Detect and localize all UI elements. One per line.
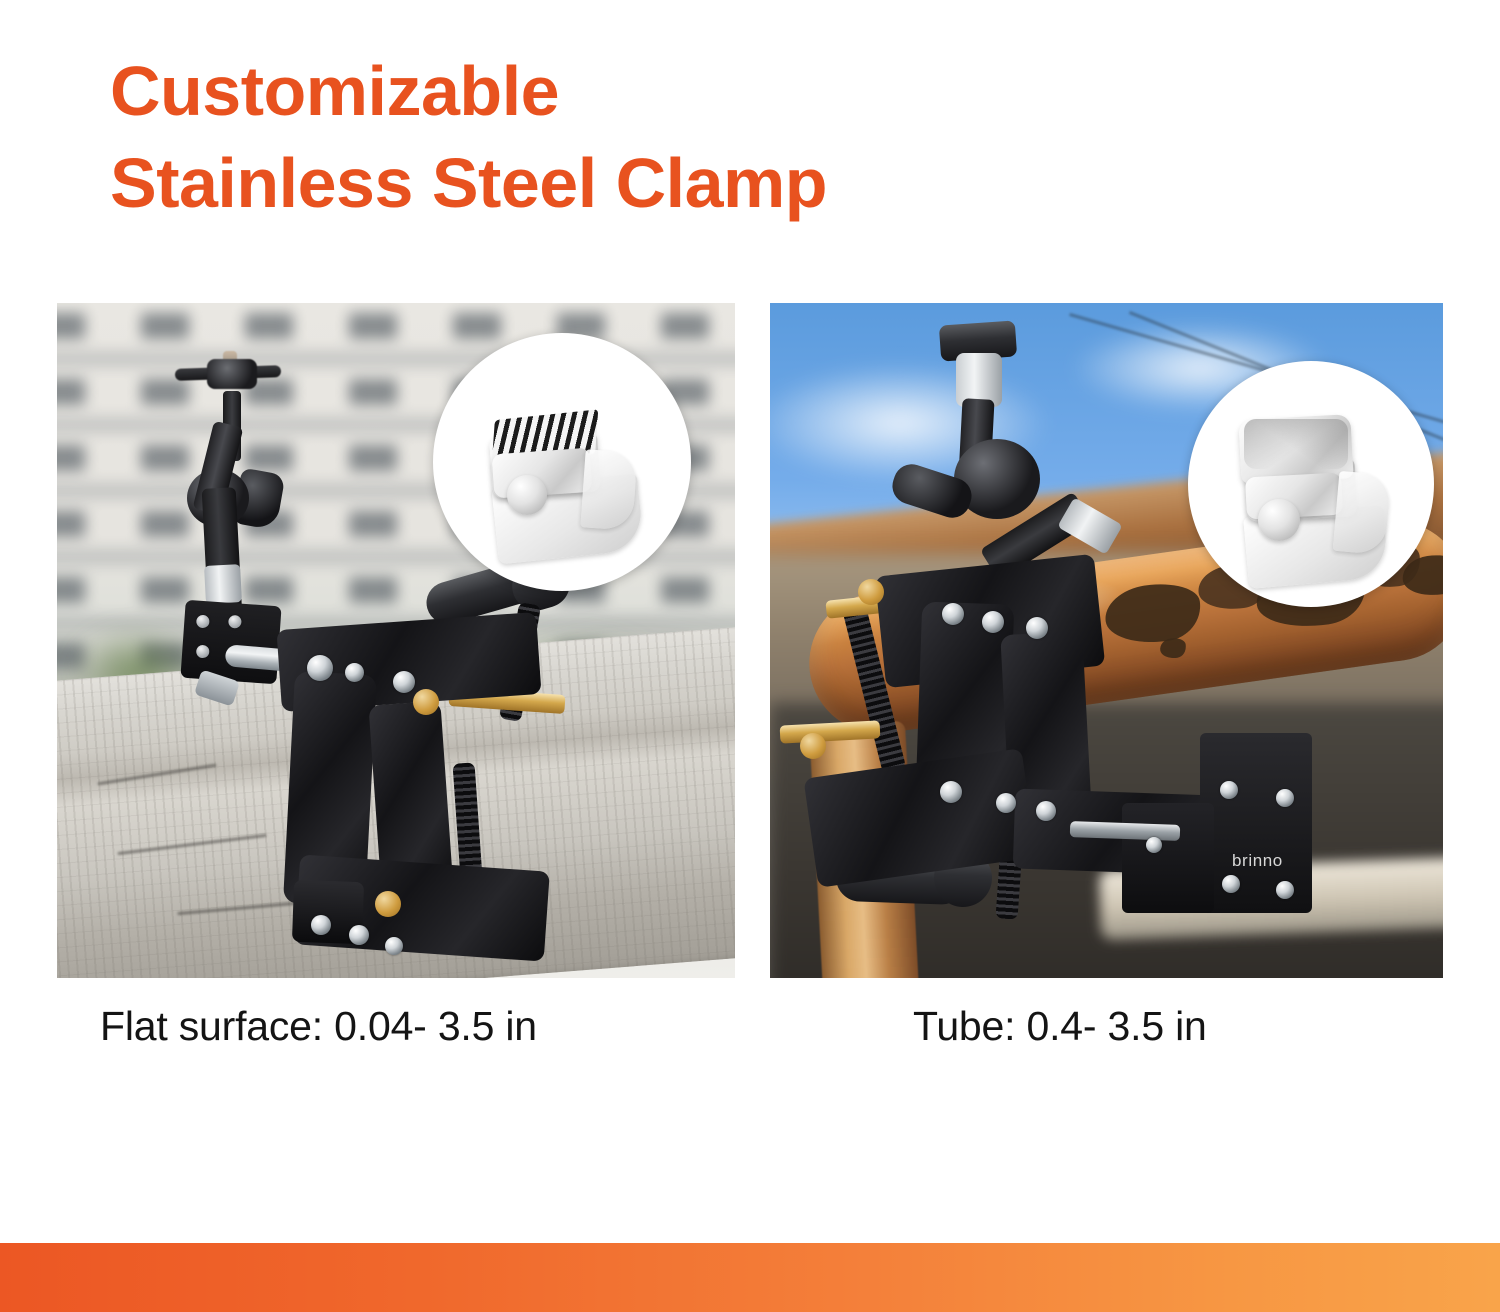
brass-rivet	[800, 733, 826, 759]
bracket-bolt	[1276, 789, 1294, 807]
arm-t-joint	[207, 359, 257, 389]
clamp-bolt	[940, 781, 962, 803]
bracket-clamp-block	[1122, 803, 1214, 913]
clamp-bolt	[1036, 801, 1056, 821]
arm-base-bracket	[180, 600, 281, 685]
product-feature-page: Customizable Stainless Steel Clamp	[0, 0, 1500, 1312]
arm-silver-collar	[204, 564, 242, 604]
inset-v-groove-jaw-pad	[1188, 361, 1434, 607]
photo-row: brinno	[57, 303, 1443, 978]
bracket-bolt	[1220, 781, 1238, 799]
caption-flat-surface: Flat surface: 0.04- 3.5 in	[100, 1003, 537, 1050]
clamp-bolt	[311, 915, 331, 935]
clamp-bolt	[393, 671, 415, 693]
clamp-bolt	[349, 925, 369, 945]
brinno-logo: brinno	[1232, 851, 1283, 871]
page-title-line-2: Stainless Steel Clamp	[110, 137, 1310, 229]
clamp-bolt	[996, 793, 1016, 813]
brass-rivet	[858, 579, 884, 605]
clamp-bolt	[1026, 617, 1048, 639]
clamp-bolt	[982, 611, 1004, 633]
bracket-bolt	[1146, 837, 1162, 853]
bottom-accent-bar	[0, 1243, 1500, 1312]
pad-ball-knob	[507, 475, 547, 515]
bracket-bolt	[1276, 881, 1294, 899]
clamp-bolt	[307, 655, 333, 681]
clamp-bolt	[345, 663, 364, 682]
brass-rivet	[413, 689, 439, 715]
page-title: Customizable Stainless Steel Clamp	[110, 45, 1310, 229]
brass-rivet	[375, 891, 401, 917]
photo-flat-surface	[57, 303, 735, 978]
caption-tube: Tube: 0.4- 3.5 in	[913, 1003, 1207, 1050]
mounting-bracket	[1200, 733, 1312, 913]
photo-tube: brinno	[770, 303, 1443, 978]
pad-ball-knob	[1258, 499, 1300, 541]
page-title-line-1: Customizable	[110, 45, 1310, 137]
bracket-bolt	[1222, 875, 1240, 893]
inset-flat-jaw-pad	[433, 333, 691, 591]
clamp-bolt	[942, 603, 964, 625]
pad-v-groove	[1244, 419, 1348, 469]
clamp-bolt	[385, 937, 403, 955]
